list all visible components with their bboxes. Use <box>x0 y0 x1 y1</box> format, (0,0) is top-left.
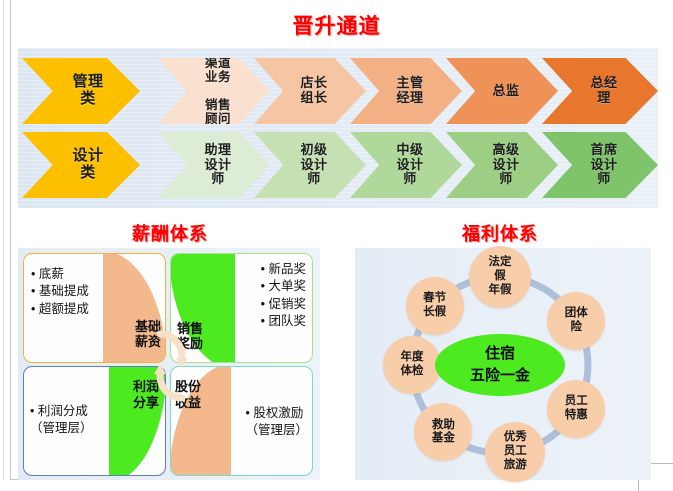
pay-bullets-base-salary: • 底薪 • 基础提成 • 超额提成 <box>31 266 89 318</box>
promotion-head-label: 管理 类 <box>72 74 103 108</box>
benefit-system-panel: 住宿 五险一金 法定 假 年假团体 险员工 特惠优秀 员工 旅游救助 基金年度 … <box>355 248 651 480</box>
pay-label-profit-share: 利润 分享 <box>133 379 159 410</box>
promotion-head-label: 设计 类 <box>72 148 103 182</box>
benefit-node[interactable]: 春节 长假 <box>406 277 464 335</box>
promotion-step[interactable]: 中级 设计 师 <box>350 132 462 198</box>
promotion-step-label: 店长 组长 <box>300 76 327 105</box>
promotion-step[interactable]: 初级 设计 师 <box>254 132 366 198</box>
benefit-node[interactable]: 年度 体检 <box>383 336 441 394</box>
promotion-step-label: 渠道 业务 销售 顾问 <box>205 56 231 126</box>
promotion-step-label: 高级 设计 师 <box>492 143 519 187</box>
pay-bullets-sales-bonus: • 新品奖 • 大单奖 • 促销奖 • 团队奖 <box>261 261 306 330</box>
benefit-center-node: 住宿 五险一金 <box>435 334 565 396</box>
promotion-step-label: 总监 <box>492 84 519 99</box>
promotion-step[interactable]: 助理 设计 师 <box>158 132 270 198</box>
promotion-head-management[interactable]: 管理 类 <box>22 58 140 124</box>
document-left-frame <box>0 0 11 480</box>
promotion-step[interactable]: 总经 理 <box>542 58 658 124</box>
benefit-node[interactable]: 团体 险 <box>547 292 605 350</box>
promotion-step[interactable]: 店长 组长 <box>254 58 366 124</box>
promotion-step[interactable]: 总监 <box>446 58 558 124</box>
promotion-step-label: 初级 设计 师 <box>300 143 327 187</box>
promotion-step-label: 中级 设计 师 <box>396 143 423 187</box>
pay-system-panel: • 底薪 • 基础提成 • 超额提成 基础 薪资 • 新品奖 • 大单奖 • 促… <box>18 248 320 480</box>
promotion-step[interactable]: 高级 设计 师 <box>446 132 558 198</box>
promotion-step[interactable]: 首席 设计 师 <box>542 132 658 198</box>
pay-quadrant-sales-bonus[interactable]: • 新品奖 • 大单奖 • 促销奖 • 团队奖 销售 奖励 <box>170 253 313 363</box>
promotion-channel-panel: 管理 类渠道 业务 销售 顾问店长 组长主管 经理总监总经 理 设计 类助理 设… <box>18 48 658 208</box>
pay-bullets-equity-income: • 股权激励 （管理层） <box>245 405 308 440</box>
pay-system-title: 薪酬体系 <box>20 220 320 246</box>
promotion-step-label: 主管 经理 <box>396 76 423 105</box>
pay-label-sales-bonus: 销售 奖励 <box>177 321 203 352</box>
benefit-node[interactable]: 员工 特惠 <box>547 380 605 438</box>
promotion-step-label: 助理 设计 师 <box>204 143 231 187</box>
slide-root: 晋升通道 管理 类渠道 业务 销售 顾问店长 组长主管 经理总监总经 理 设计 … <box>0 0 673 490</box>
promotion-step-label: 总经 理 <box>590 76 617 105</box>
pay-label-equity-income: 股份 收益 <box>175 379 201 410</box>
pay-quadrant-equity-income[interactable]: • 股权激励 （管理层） 股份 收益 <box>170 366 313 476</box>
document-bottom-frame <box>10 479 50 490</box>
benefit-node[interactable]: 优秀 员工 旅游 <box>485 422 545 482</box>
promotion-step[interactable]: 主管 经理 <box>350 58 462 124</box>
pay-quadrant-profit-share[interactable]: • 利润分成 （管理层） 利润 分享 <box>23 366 166 476</box>
document-left-frame-inner <box>0 0 4 480</box>
pay-bullets-profit-share: • 利润分成 （管理层） <box>30 403 93 438</box>
benefit-node[interactable]: 法定 假 年假 <box>469 246 531 308</box>
pay-quadrant-base-salary[interactable]: • 底薪 • 基础提成 • 超额提成 基础 薪资 <box>23 253 166 363</box>
page-title: 晋升通道 <box>0 10 673 40</box>
promotion-step-label: 首席 设计 师 <box>590 143 617 187</box>
pay-label-base-salary: 基础 薪资 <box>135 319 161 350</box>
benefit-system-title: 福利体系 <box>340 220 660 246</box>
promotion-head-design[interactable]: 设计 类 <box>22 132 140 198</box>
promotion-step[interactable]: 渠道 业务 销售 顾问 <box>158 58 270 124</box>
